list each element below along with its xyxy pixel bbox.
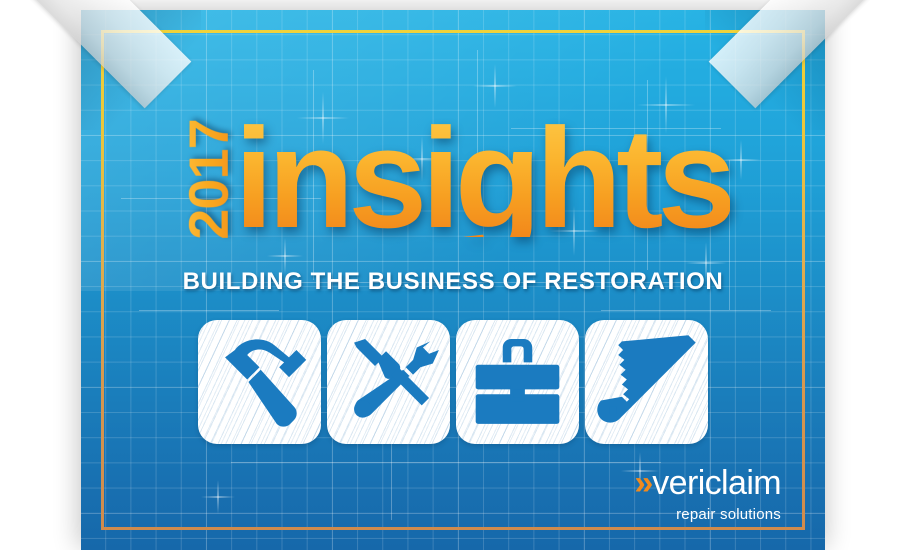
vericlaim-logo: »vericlaim repair solutions — [634, 466, 781, 522]
title-block: 2017 insights — [81, 114, 825, 244]
icon-tile-handsaw — [585, 320, 708, 444]
icon-tile-tools — [327, 320, 450, 444]
tagline-text: BUILDING THE BUSINESS OF RESTORATION — [81, 268, 825, 296]
year-label: 2017 — [175, 119, 240, 240]
poster-canvas: 2017 insights BUILDING THE BUSINESS OF R… — [0, 0, 900, 550]
chevron-icon: » — [634, 464, 650, 502]
icon-tile-hammer — [198, 320, 321, 444]
handsaw-icon — [585, 320, 708, 444]
icon-tile-toolbox — [456, 320, 579, 444]
tools-icon — [327, 320, 450, 444]
logo-tagline: repair solutions — [634, 507, 781, 522]
blueprint-poster: 2017 insights BUILDING THE BUSINESS OF R… — [81, 10, 825, 550]
logo-name-row: »vericlaim — [634, 466, 781, 500]
icon-tile-row — [81, 320, 825, 444]
insights-wordmark: insights — [234, 121, 730, 237]
toolbox-icon — [456, 320, 579, 444]
logo-name: vericlaim — [652, 464, 781, 502]
corner-shade-left — [81, 10, 201, 130]
hammer-icon — [198, 320, 321, 444]
